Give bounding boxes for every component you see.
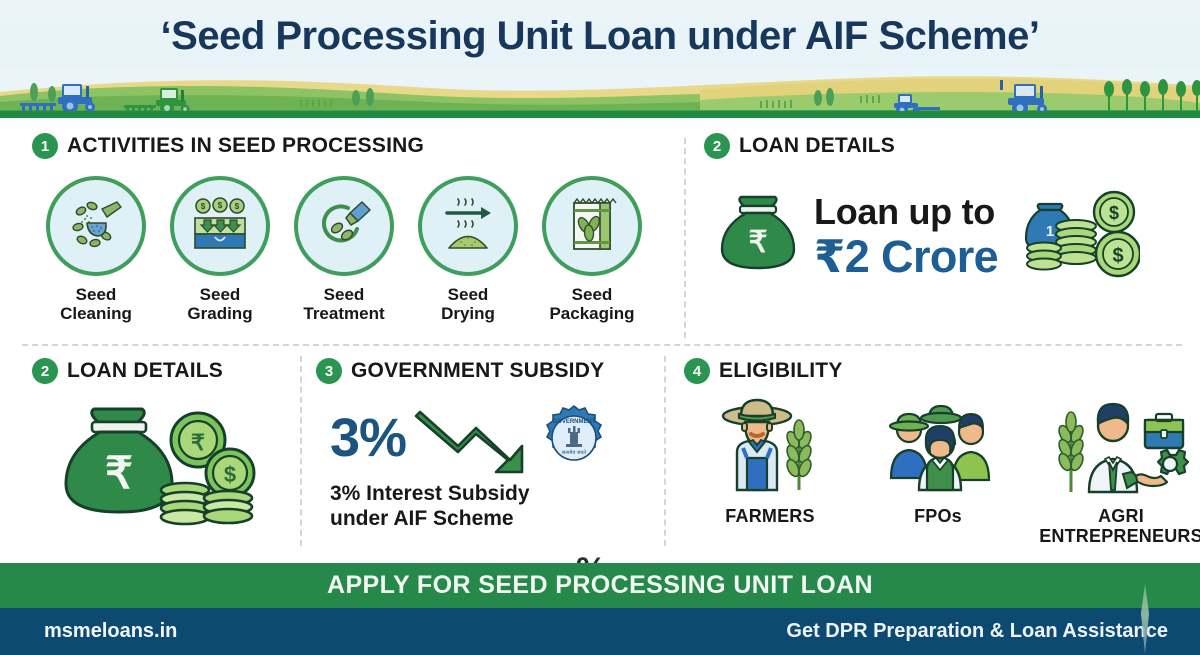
svg-text:GOVERNMENT: GOVERNMENT <box>553 419 596 425</box>
activity-item[interactable]: Seed Cleaning <box>44 176 148 323</box>
svg-text:$: $ <box>201 202 206 211</box>
coin-stack-icon: $ 1 $ <box>1014 186 1140 286</box>
agri-entrepreneur-icon <box>1051 392 1191 500</box>
infographic-page: ‘Seed Processing Unit Loan under AIF Sch… <box>0 0 1200 655</box>
eligibility-item[interactable]: AGRI ENTREPRENEURS <box>1026 392 1200 546</box>
eligibility-item[interactable]: FARMERS <box>690 392 850 546</box>
divider-vertical-top <box>684 138 686 338</box>
cta-label: APPLY FOR SEED PROCESSING UNIT LOAN <box>327 571 873 600</box>
section-header-eligibility: 4 ELIGIBILITY <box>684 358 843 384</box>
eligibility-item[interactable]: FPOs <box>858 392 1018 546</box>
down-arrow-icon <box>410 398 540 478</box>
svg-text:₹: ₹ <box>105 449 133 498</box>
wheat-stalk-icon <box>1057 412 1086 492</box>
wheat-stalk-icon <box>785 420 814 490</box>
money-bag-rupee-icon: ₹ ₹ $ <box>58 398 258 538</box>
svg-text:₹: ₹ <box>748 226 767 259</box>
footer-tagline: Get DPR Preparation & Loan Assistance <box>786 620 1168 643</box>
svg-text:सत्यमेव जयते: सत्यमेव जयते <box>562 449 586 456</box>
section-number-badge: 2 <box>704 133 730 159</box>
divider-horizontal <box>22 344 1182 346</box>
section-header-subsidy: 3 GOVERNMENT SUBSIDY <box>316 358 604 384</box>
page-title: ‘Seed Processing Unit Loan under AIF Sch… <box>0 14 1200 59</box>
activity-icon-ring <box>46 176 146 276</box>
svg-text:$: $ <box>1109 203 1119 223</box>
eligibility-label: FPOs <box>914 506 962 526</box>
loan-amount-block: ₹ Loan up to ₹2 Crore $ 1 <box>712 186 1140 286</box>
subsidy-percent: 3% <box>330 411 406 465</box>
government-seal-icon: GOVERNMENT सत्यमेव जयते <box>540 404 608 472</box>
activity-label: Seed Cleaning <box>60 285 132 323</box>
svg-text:₹: ₹ <box>191 430 205 455</box>
loan-line1: Loan up to <box>814 194 998 230</box>
section-header-activities: 1 ACTIVITIES IN SEED PROCESSING <box>32 133 424 159</box>
loan-line2: ₹2 Crore <box>814 234 998 279</box>
svg-text:$: $ <box>1113 245 1124 267</box>
header-banner: ‘Seed Processing Unit Loan under AIF Sch… <box>0 0 1200 118</box>
section-title: LOAN DETAILS <box>67 359 223 383</box>
farmer-group-icon <box>879 392 997 500</box>
section-number-badge: 4 <box>684 358 710 384</box>
loan-text: Loan up to ₹2 Crore <box>814 194 998 279</box>
seed-scoop-icon <box>65 195 127 257</box>
activity-icon-ring <box>418 176 518 276</box>
svg-text:$: $ <box>224 462 236 487</box>
gear-icon <box>1158 450 1188 474</box>
section-header-loan-details-top: 2 LOAN DETAILS <box>704 133 895 159</box>
seed-treatment-icon <box>313 195 375 257</box>
money-bag-icon: ₹ <box>712 190 804 282</box>
activity-item[interactable]: Seed Drying <box>416 176 520 323</box>
section-number-badge: 3 <box>316 358 342 384</box>
subsidy-block: 3% GOVERNMENT सत्यमेव जयते 3% Interest S… <box>330 398 608 532</box>
section-title: ELIGIBILITY <box>719 359 843 383</box>
activity-item[interactable]: Seed Treatment <box>292 176 396 323</box>
divider-vertical-bottom-right <box>664 356 666 546</box>
subsidy-caption: 3% Interest Subsidy under AIF Scheme % <box>330 482 608 532</box>
eligibility-list: FARMERS <box>690 392 1200 546</box>
divider-vertical-bottom-left <box>300 356 302 546</box>
footer-bar: msmeloans.in Get DPR Preparation & Loan … <box>0 608 1200 655</box>
svg-text:1: 1 <box>1046 223 1054 240</box>
site-url[interactable]: msmeloans.in <box>44 620 177 643</box>
activity-icon-ring: $ $ $ <box>170 176 270 276</box>
activity-item[interactable]: $ $ $ Seed Grading <box>168 176 272 323</box>
section-header-loan-details-bottom: 2 LOAN DETAILS <box>32 358 223 384</box>
section-title: ACTIVITIES IN SEED PROCESSING <box>67 134 424 158</box>
svg-text:$: $ <box>218 201 223 210</box>
seed-packaging-icon <box>561 195 623 257</box>
header-bottom-band <box>0 111 1200 118</box>
subsidy-headline-row: 3% GOVERNMENT सत्यमेव जयते <box>330 398 608 478</box>
activity-label: Seed Drying <box>441 285 495 323</box>
section-title: LOAN DETAILS <box>739 134 895 158</box>
section-number-badge: 1 <box>32 133 58 159</box>
eligibility-label: FARMERS <box>725 506 814 526</box>
activity-icon-ring <box>294 176 394 276</box>
seed-grading-icon: $ $ $ <box>189 195 251 257</box>
eligibility-label: AGRI ENTREPRENEURS <box>1039 506 1200 546</box>
section-title: GOVERNMENT SUBSIDY <box>351 359 604 383</box>
svg-text:$: $ <box>235 202 240 211</box>
activity-label: Seed Packaging <box>549 285 634 323</box>
activities-list: Seed Cleaning $ $ $ <box>44 176 644 323</box>
loan-money-illustration: ₹ ₹ $ <box>58 398 258 543</box>
section-number-badge: 2 <box>32 358 58 384</box>
activity-icon-ring <box>542 176 642 276</box>
farmer-icon <box>711 392 829 500</box>
activity-label: Seed Grading <box>187 285 252 323</box>
seed-drying-icon <box>437 195 499 257</box>
activity-item[interactable]: Seed Packaging <box>540 176 644 323</box>
activity-label: Seed Treatment <box>303 285 384 323</box>
cta-bar[interactable]: APPLY FOR SEED PROCESSING UNIT LOAN <box>0 563 1200 608</box>
